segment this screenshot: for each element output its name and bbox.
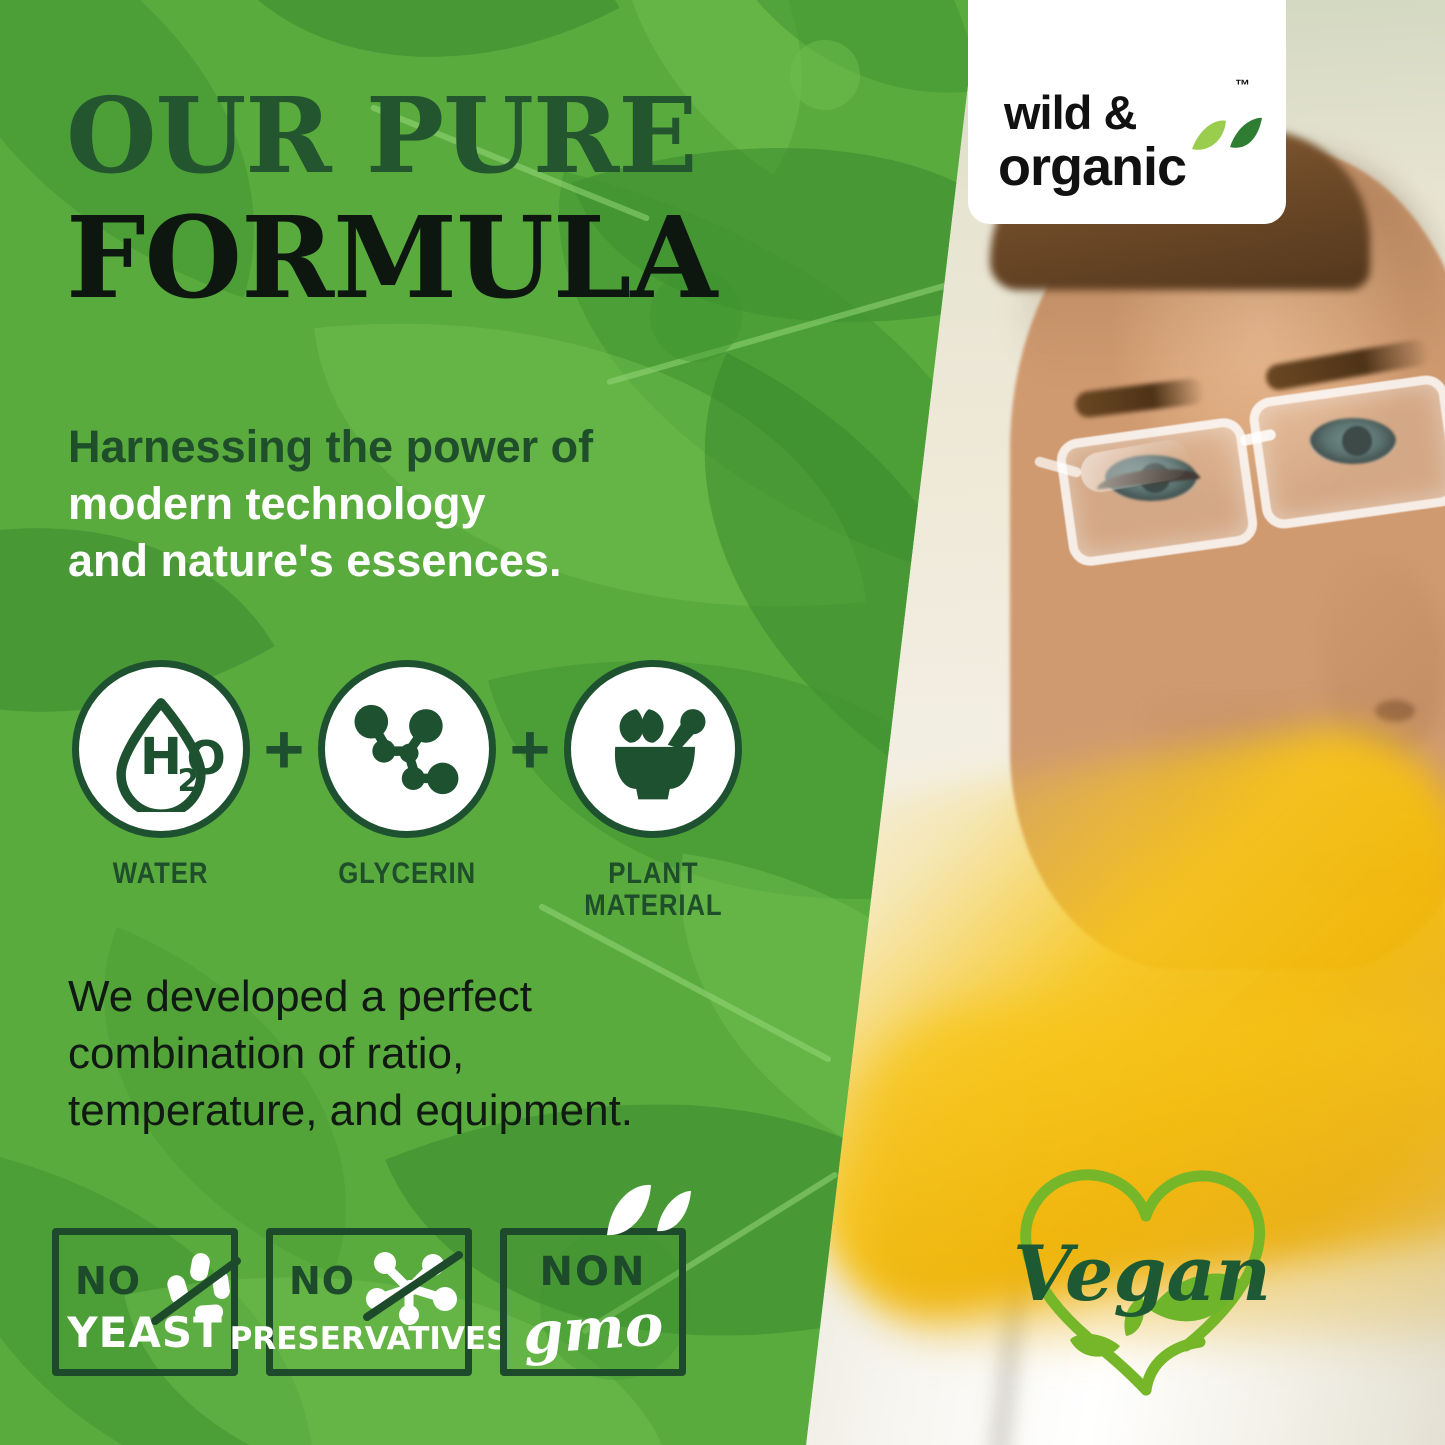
page-title: OUR PURE FORMULA — [66, 86, 716, 314]
ingredient-label: WATER — [113, 858, 209, 890]
intro-line-1: Harnessing the power of — [68, 418, 593, 475]
headline-line-1: OUR PURE — [66, 86, 716, 187]
intro-line-2: modern technology — [68, 475, 593, 532]
ingredients-row: H 2 O WATER + — [70, 660, 790, 923]
vegan-label: Vegan — [1013, 1229, 1271, 1318]
water-drop-h2o-icon: H 2 O — [72, 660, 250, 838]
badge-main-label: YEAST — [67, 1308, 223, 1357]
certification-badges: NO YEAST NO — [52, 1228, 686, 1376]
svg-text:H: H — [140, 727, 182, 786]
heart-leaf-vegan-icon: Vegan — [1000, 1150, 1290, 1430]
logo-leaf-icon — [1190, 115, 1264, 157]
headline-line-2: FORMULA — [66, 205, 716, 314]
badge-main-label: PRESERVATIVES — [230, 1321, 509, 1357]
product-infographic: ™ wild & organic OUR PURE FORMULA Harnes… — [0, 0, 1445, 1445]
badge-no-yeast: NO YEAST — [52, 1228, 238, 1376]
badge-prefix: NO — [75, 1259, 141, 1303]
plus-separator-2: + — [498, 660, 562, 838]
molecule-icon — [318, 660, 496, 838]
body-paragraph: We developed a perfect combination of ra… — [68, 968, 633, 1140]
ingredient-label: GLYCERIN — [338, 858, 476, 890]
badge-prefix: NO — [289, 1259, 355, 1303]
vegan-badge: Vegan — [1000, 1150, 1290, 1430]
ingredient-plant-material: PLANT MATERIAL — [562, 660, 744, 923]
brand-logo[interactable]: ™ wild & organic — [968, 0, 1286, 224]
body-line-2: combination of ratio, — [68, 1025, 633, 1082]
body-line-1: We developed a perfect — [68, 968, 633, 1025]
svg-text:O: O — [187, 731, 224, 785]
ingredient-glycerin: GLYCERIN — [316, 660, 498, 890]
ingredient-water: H 2 O WATER — [70, 660, 252, 890]
trademark-symbol: ™ — [1235, 77, 1250, 94]
badge-non-gmo: NON gmo — [500, 1228, 686, 1376]
plus-separator-1: + — [252, 660, 316, 838]
ingredient-label: PLANT MATERIAL — [584, 858, 722, 923]
intro-paragraph: Harnessing the power of modern technolog… — [68, 418, 593, 589]
intro-line-3: and nature's essences. — [68, 532, 593, 589]
badge-no-preservatives: NO PRESERV — [266, 1228, 472, 1376]
background-dot — [790, 40, 860, 110]
badge-prefix: NON — [540, 1249, 647, 1295]
body-line-3: temperature, and equipment. — [68, 1082, 633, 1139]
leaf-pair-icon — [603, 1181, 695, 1243]
badge-main-label: gmo — [520, 1290, 665, 1368]
mortar-pestle-icon — [564, 660, 742, 838]
